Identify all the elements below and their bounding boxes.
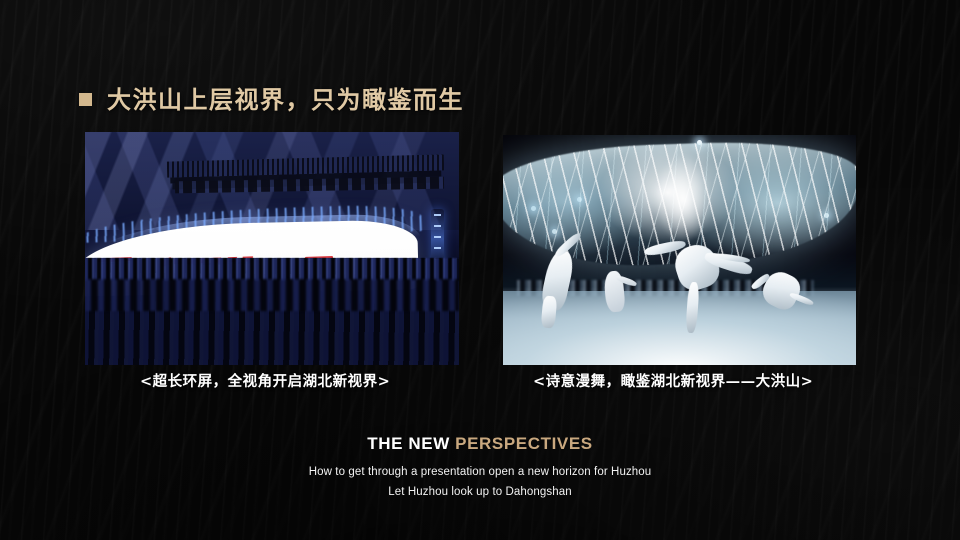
- footer-headline-white: THE NEW: [367, 434, 455, 453]
- slide-title: 大洪山上层视界，只为瞰鉴而生: [79, 80, 464, 115]
- hall-scene: [85, 132, 459, 365]
- footer-subtitle-line-1: How to get through a presentation open a…: [0, 466, 960, 478]
- luminous-fabric-highlight: [644, 153, 722, 254]
- footer-headline: THE NEW PERSPECTIVES: [0, 434, 960, 454]
- caption-left-photo: <超长环屏，全视角开启湖北新视界>: [140, 370, 390, 391]
- hall-audience-seating: [85, 258, 459, 365]
- photo-dance-performance-luminous-veil[interactable]: [503, 135, 856, 365]
- slide-title-text: 大洪山上层视界，只为瞰鉴而生: [107, 80, 464, 115]
- footer-subtitle-line-2: Let Huzhou look up to Dahongshan: [0, 486, 960, 498]
- square-bullet-icon: [79, 93, 92, 106]
- photo-conference-hall-led-screen[interactable]: [85, 132, 459, 365]
- presentation-slide: 大洪山上层视界，只为瞰鉴而生: [0, 0, 960, 540]
- footer-headline-gold: PERSPECTIVES: [455, 434, 593, 453]
- caption-right-photo: <诗意漫舞，瞰鉴湖北新视界——大洪山>: [533, 370, 813, 391]
- stage-scene: [503, 135, 856, 365]
